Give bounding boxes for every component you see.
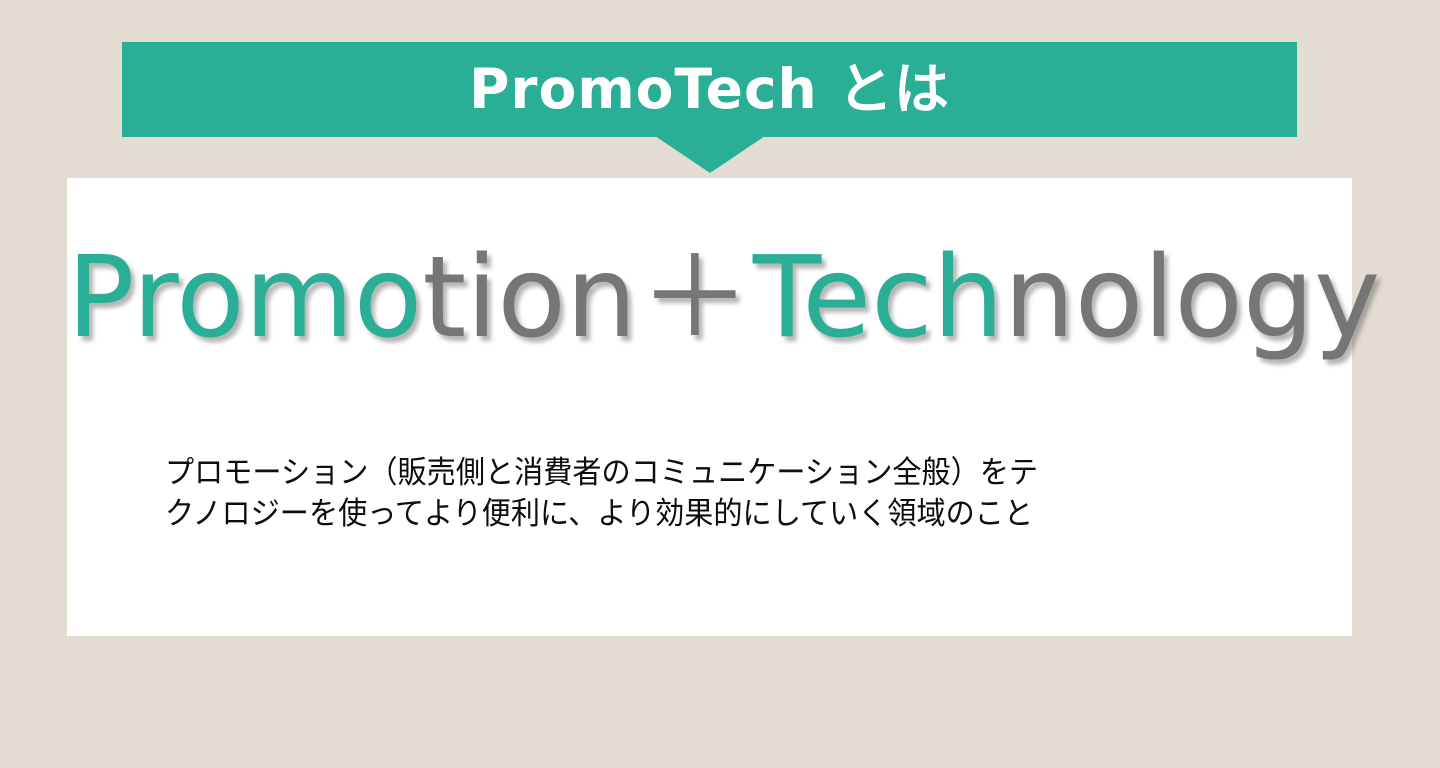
slide-canvas: PromoTech とは Promotion＋Technology プロモーショ… (0, 0, 1440, 768)
headline-segment-nology: nology (1004, 233, 1381, 363)
description-line-1: プロモーション（販売側と消費者のコミュニケーション全般）をテ (165, 453, 1190, 494)
description-line-2: クノロジーを使ってより便利に、より効果的にしていく領域のこと (165, 494, 1190, 535)
header-banner: PromoTech とは (122, 42, 1297, 137)
headline-segment-tion: tion (422, 233, 637, 363)
headline-segment-tech: Tech (753, 233, 1004, 363)
content-card: Promotion＋Technology プロモーション（販売側と消費者のコミュ… (67, 178, 1352, 636)
description-text: プロモーション（販売側と消費者のコミュニケーション全般）をテ クノロジーを使って… (165, 453, 1255, 535)
headline-plus-sign: ＋ (637, 233, 753, 363)
banner-tail-triangle-icon (655, 136, 765, 173)
banner-title: PromoTech とは (469, 62, 950, 117)
headline-segment-promo: Promo (67, 233, 422, 363)
headline: Promotion＋Technology (67, 240, 1352, 358)
